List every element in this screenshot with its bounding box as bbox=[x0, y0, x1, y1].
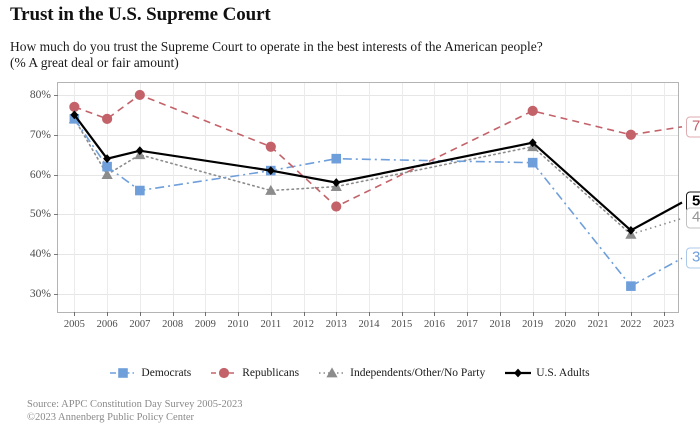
x-axis-tick-label: 2021 bbox=[588, 319, 609, 330]
x-axis-tick-label: 2020 bbox=[555, 319, 576, 330]
x-axis-tick-label: 2018 bbox=[489, 319, 510, 330]
data-point-marker bbox=[331, 154, 341, 164]
series-layer bbox=[58, 83, 680, 314]
data-point-marker bbox=[136, 146, 144, 155]
x-axis-tick-label: 2017 bbox=[457, 319, 478, 330]
legend-label: Democrats bbox=[141, 367, 191, 379]
data-point-marker bbox=[528, 106, 538, 116]
x-axis-tick-label: 2011 bbox=[260, 319, 281, 330]
series-line bbox=[74, 119, 631, 286]
x-axis-tick-label: 2010 bbox=[228, 319, 249, 330]
chart-subtitle: How much do you trust the Supreme Court … bbox=[10, 39, 543, 71]
data-point-marker bbox=[135, 186, 145, 196]
subtitle-line-2: (% A great deal or fair amount) bbox=[10, 55, 543, 71]
y-axis-tick-label: 30% bbox=[30, 288, 51, 300]
legend-label: U.S. Adults bbox=[536, 367, 589, 379]
legend-item[interactable]: Republicans bbox=[211, 367, 299, 379]
x-axis-tick-label: 2007 bbox=[129, 319, 150, 330]
series-square bbox=[70, 114, 682, 291]
x-axis-tick-label: 2009 bbox=[195, 319, 216, 330]
y-axis-tick-label: 40% bbox=[30, 248, 51, 260]
square-marker bbox=[110, 367, 136, 379]
callout-connector bbox=[631, 202, 682, 230]
x-axis-tick-label: 2023 bbox=[653, 319, 674, 330]
plot-area: 30%40%50%60%70%80%2005200620072008200920… bbox=[57, 82, 679, 313]
diamond-marker bbox=[505, 367, 531, 379]
x-axis-tick-label: 2016 bbox=[424, 319, 445, 330]
source-line: Source: APPC Constitution Day Survey 200… bbox=[27, 398, 243, 411]
x-axis-tick-label: 2022 bbox=[620, 319, 641, 330]
triangle-marker bbox=[319, 367, 345, 379]
data-point-marker bbox=[102, 162, 112, 172]
series-diamond bbox=[70, 110, 682, 234]
end-value-callout: 39 bbox=[686, 248, 700, 269]
y-axis-tick-label: 50% bbox=[30, 208, 51, 220]
x-axis-tick-label: 2008 bbox=[162, 319, 183, 330]
x-axis-tick-label: 2005 bbox=[64, 319, 85, 330]
x-axis-tick-label: 2013 bbox=[326, 319, 347, 330]
x-axis-tick-label: 2006 bbox=[97, 319, 118, 330]
plot-inner: 30%40%50%60%70%80%2005200620072008200920… bbox=[58, 83, 678, 312]
data-point-marker bbox=[332, 178, 340, 187]
legend-item[interactable]: Democrats bbox=[110, 367, 191, 379]
end-value-callout: 72 bbox=[686, 116, 700, 137]
chart-legend: DemocratsRepublicansIndependents/Other/N… bbox=[0, 367, 700, 379]
series-line bbox=[74, 95, 631, 207]
subtitle-line-1: How much do you trust the Supreme Court … bbox=[10, 39, 543, 55]
x-axis-tick-label: 2014 bbox=[359, 319, 380, 330]
y-axis-tick-label: 70% bbox=[30, 129, 51, 141]
series-line bbox=[74, 119, 631, 235]
y-axis-tick-label: 60% bbox=[30, 169, 51, 181]
legend-item[interactable]: Independents/Other/No Party bbox=[319, 367, 485, 379]
x-axis-tick-label: 2012 bbox=[293, 319, 314, 330]
series-line bbox=[74, 115, 631, 230]
legend-label: Independents/Other/No Party bbox=[350, 367, 485, 379]
callout-connector bbox=[631, 258, 682, 286]
chart-footer: Source: APPC Constitution Day Survey 200… bbox=[27, 398, 243, 424]
data-point-marker bbox=[266, 142, 276, 152]
legend-item[interactable]: U.S. Adults bbox=[505, 367, 589, 379]
callout-connector bbox=[631, 127, 682, 135]
x-axis-tick-label: 2015 bbox=[391, 319, 412, 330]
data-point-marker bbox=[528, 158, 538, 168]
data-point-marker bbox=[331, 201, 341, 211]
series-triangle bbox=[69, 113, 682, 239]
circle-marker bbox=[211, 367, 237, 379]
data-point-marker bbox=[102, 114, 112, 124]
end-value-callout: 49 bbox=[686, 208, 700, 229]
page-title: Trust in the U.S. Supreme Court bbox=[10, 4, 271, 26]
x-axis-tick-label: 2019 bbox=[522, 319, 543, 330]
legend-label: Republicans bbox=[242, 367, 299, 379]
copyright-line: ©2023 Annenberg Public Policy Center bbox=[27, 411, 243, 424]
y-axis-tick-label: 80% bbox=[30, 89, 51, 101]
data-point-marker bbox=[135, 90, 145, 100]
